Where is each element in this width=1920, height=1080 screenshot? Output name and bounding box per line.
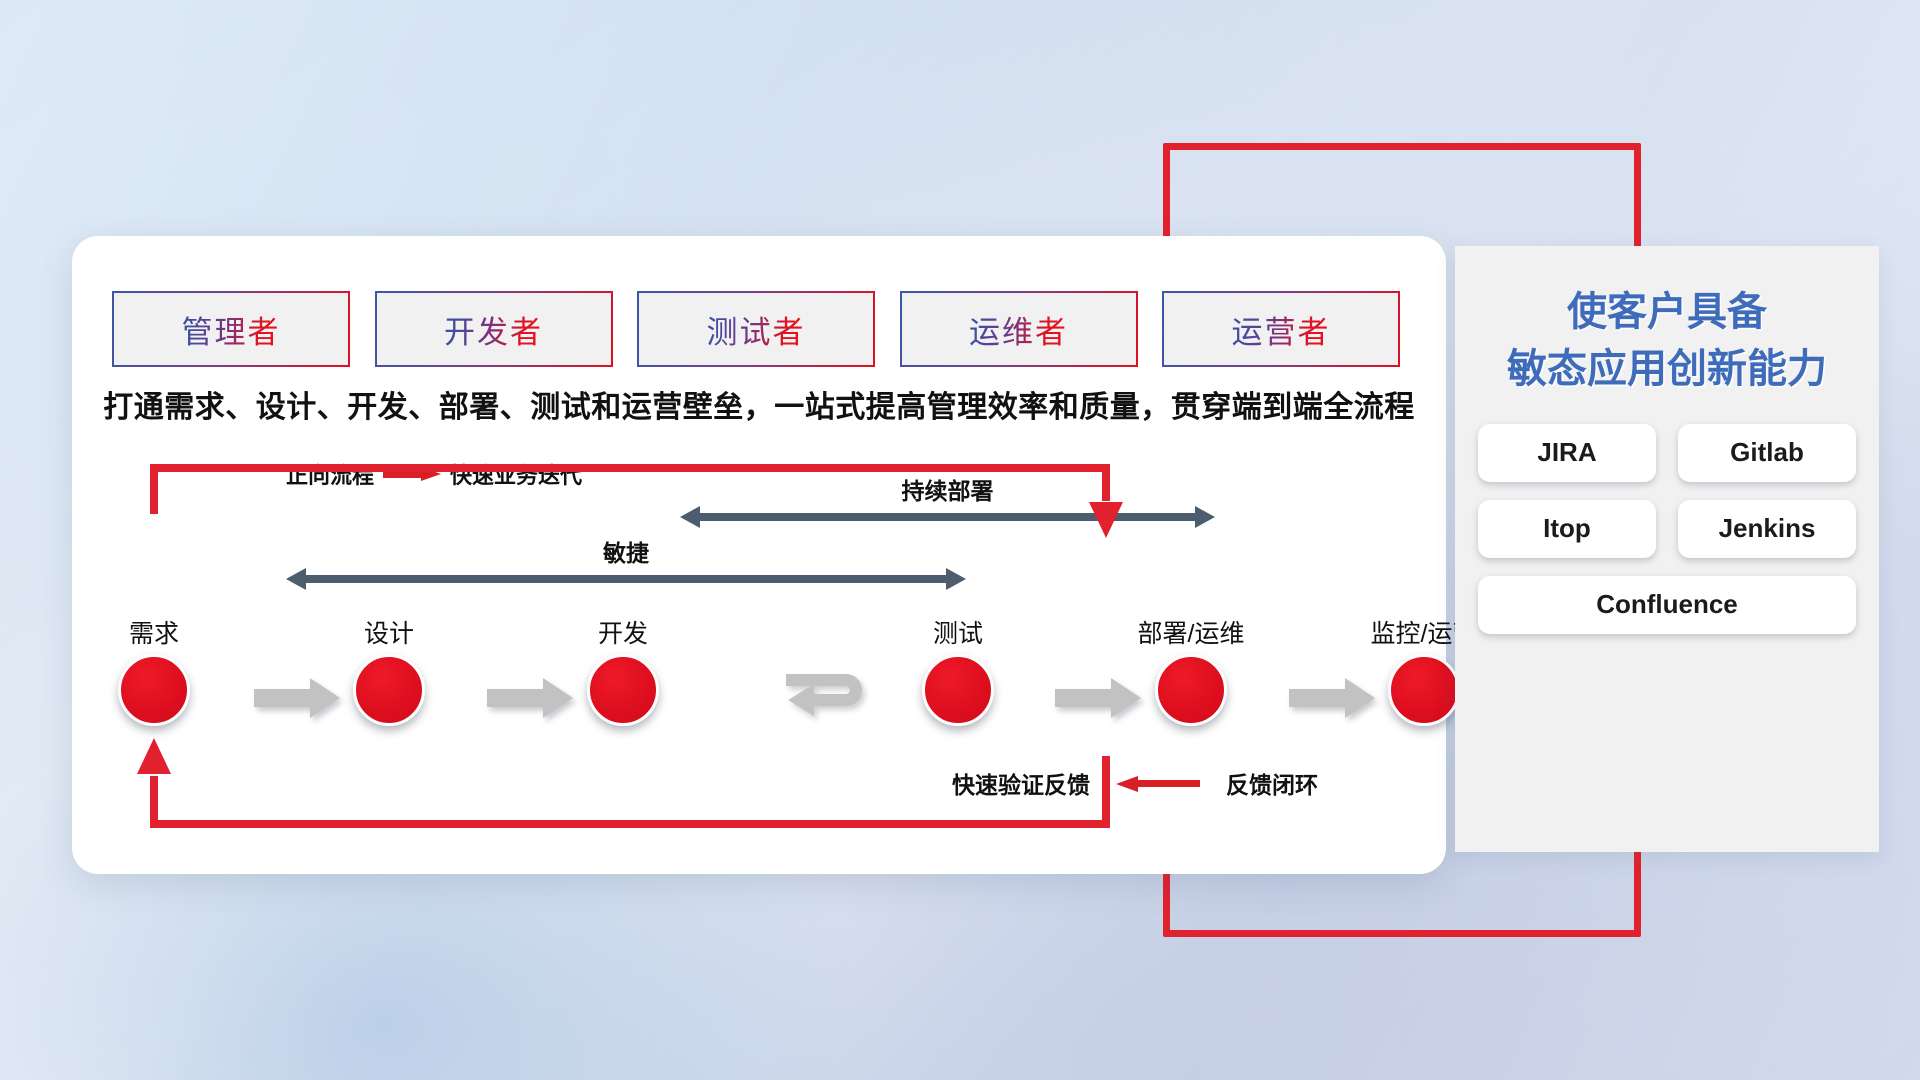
legend-feedback-left-label: 快速验证反馈	[952, 766, 1090, 800]
double-arrow-agile-icon	[286, 568, 966, 590]
gray-arrow-3-icon	[1055, 676, 1143, 720]
tool-chip-gitlab[interactable]: Gitlab	[1678, 424, 1856, 482]
stage-design[interactable]: 设计	[329, 614, 449, 726]
role-box-tester[interactable]: 测试者	[637, 291, 875, 367]
arrow-bar	[304, 575, 948, 583]
arrow-bar	[698, 513, 1197, 521]
role-box-operations[interactable]: 运营者	[1162, 291, 1400, 367]
tool-chip-jenkins[interactable]: Jenkins	[1678, 500, 1856, 558]
arrow-head-left-icon	[286, 568, 306, 590]
stage-label: 部署/运维	[1131, 614, 1251, 650]
arrow-right-red-icon	[383, 467, 441, 481]
legend-feedback-loop: 快速验证反馈 反馈闭环	[952, 766, 1318, 800]
role-label: 测试者	[707, 307, 806, 352]
tool-chip-itop[interactable]: Itop	[1478, 500, 1656, 558]
gray-arrow-2-icon	[487, 676, 575, 720]
stage-label: 测试	[898, 614, 1018, 650]
legend-forward-left-label: 正向流程	[286, 458, 374, 490]
stage-testing[interactable]: 测试	[898, 614, 1018, 726]
stage-dot	[1155, 654, 1227, 726]
double-arrow-continuous-deployment-icon	[680, 506, 1215, 528]
tool-chip-confluence[interactable]: Confluence	[1478, 576, 1856, 634]
stage-label: 需求	[94, 614, 214, 650]
legend-forward-flow: 正向流程 快速业务迭代	[286, 458, 582, 490]
iteration-loop-arrow-icon	[784, 664, 890, 730]
legend-feedback-right-label: 反馈闭环	[1226, 766, 1318, 800]
tool-chip-jira[interactable]: JIRA	[1478, 424, 1656, 482]
devops-overview-card: 管理者 开发者 测试者 运维者 运营者 打通需求、设计、开发、部署、测试和运营壁…	[72, 236, 1446, 874]
stage-deploy-ops[interactable]: 部署/运维	[1131, 614, 1251, 726]
arrow-head-right-icon	[946, 568, 966, 590]
role-label: 开发者	[444, 307, 543, 352]
stage-dot	[587, 654, 659, 726]
stage-dot	[353, 654, 425, 726]
role-box-developer[interactable]: 开发者	[375, 291, 613, 367]
card-subtitle: 打通需求、设计、开发、部署、测试和运营壁垒，一站式提高管理效率和质量，贯穿端到端…	[72, 382, 1446, 426]
arrow-left-red-icon	[1116, 776, 1200, 791]
stage-requirements[interactable]: 需求	[94, 614, 214, 726]
stage-dot	[118, 654, 190, 726]
stage-label: 设计	[329, 614, 449, 650]
stage-dot	[922, 654, 994, 726]
role-box-row: 管理者 开发者 测试者 运维者 运营者	[112, 291, 1400, 363]
pipeline-row: 需求 设计 开发 测试 部署/运维	[72, 614, 1446, 764]
role-box-ops[interactable]: 运维者	[900, 291, 1138, 367]
arrow-head-left-icon	[680, 506, 700, 528]
role-label: 管理者	[182, 307, 281, 352]
capability-panel: 使客户具备 敏态应用创新能力 JIRA Gitlab Itop Jenkins …	[1455, 246, 1879, 852]
span-label-agile: 敏捷	[286, 534, 966, 568]
panel-heading-line2: 敏态应用创新能力	[1465, 341, 1869, 398]
role-box-manager[interactable]: 管理者	[112, 291, 350, 367]
span-label-continuous-deployment: 持续部署	[680, 472, 1215, 506]
legend-forward-right-label: 快速业务迭代	[450, 458, 582, 490]
stage-dot	[1388, 654, 1460, 726]
stage-label: 开发	[563, 614, 683, 650]
panel-heading: 使客户具备 敏态应用创新能力	[1455, 246, 1879, 398]
stage-development[interactable]: 开发	[563, 614, 683, 726]
role-label: 运维者	[969, 307, 1068, 352]
role-label: 运营者	[1232, 307, 1331, 352]
arrow-head-right-icon	[1195, 506, 1215, 528]
tool-chip-list: JIRA Gitlab Itop Jenkins Confluence	[1477, 424, 1857, 634]
panel-heading-line1: 使客户具备	[1465, 284, 1869, 341]
